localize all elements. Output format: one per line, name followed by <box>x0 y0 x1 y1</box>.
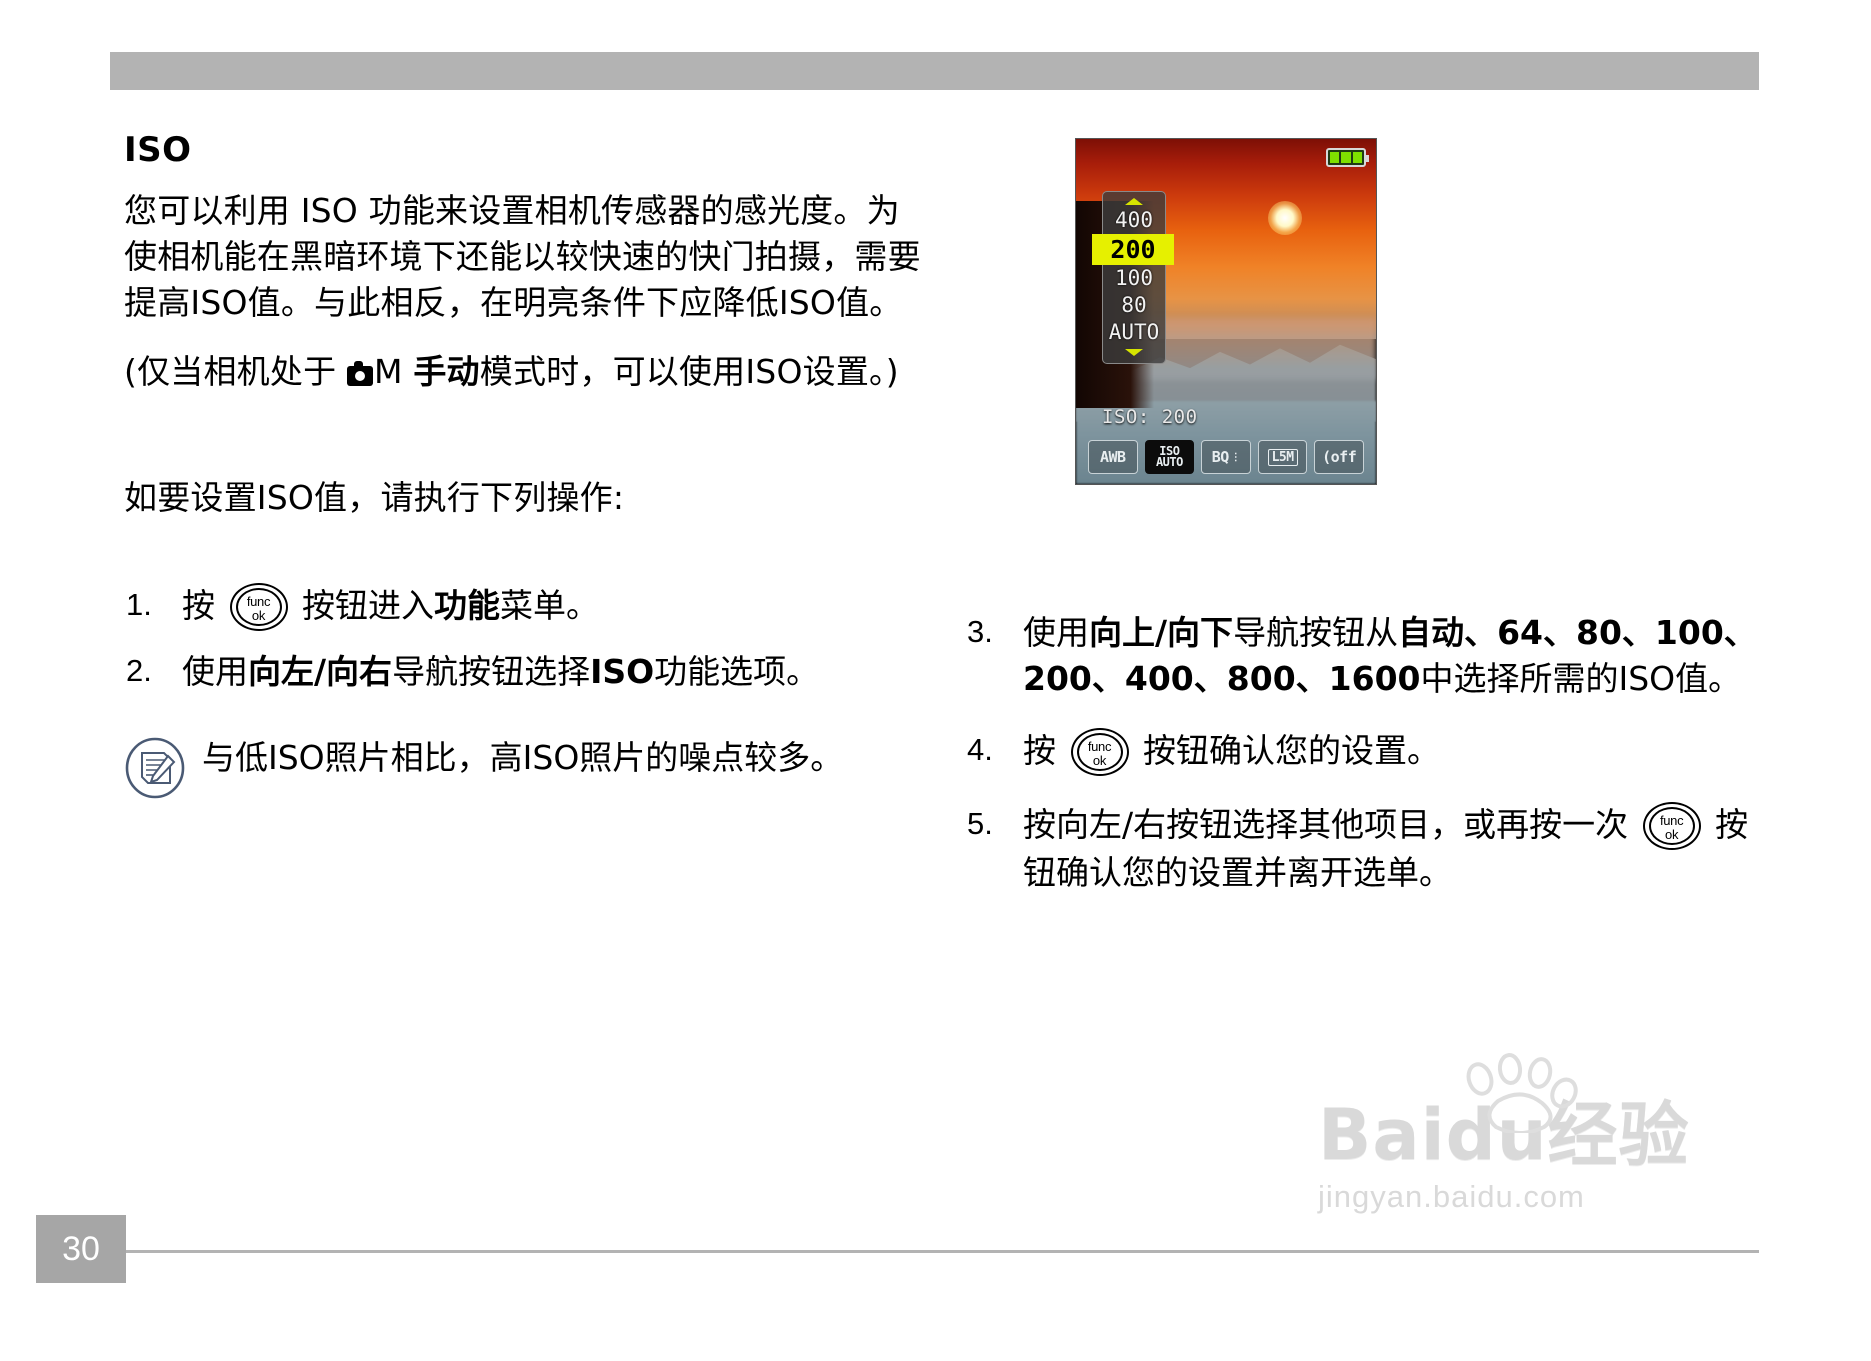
step-text-d: 中选择所需的ISO值。 <box>1421 659 1742 698</box>
step-text-a: 按向左/右按钮选择其他项目，或再按一次 <box>1023 805 1628 844</box>
sun-glow <box>1268 201 1302 235</box>
function-cell-iso[interactable]: ISO AUTO <box>1145 440 1195 474</box>
func-ok-button-icon: funcok <box>230 583 288 631</box>
iso-option-100[interactable]: 100 <box>1103 265 1165 292</box>
step-text-b: 按钮确认您的设置。 <box>1143 731 1440 770</box>
arrow-up-icon[interactable] <box>1125 198 1143 205</box>
note-pad-icon <box>124 737 186 799</box>
steps-list-left: 1.按 funcok 按钮进入功能菜单。 2.使用向左/向右导航按钮选择ISO功… <box>124 583 924 695</box>
paragraph-2-prefix: (仅当相机处于 <box>124 352 347 391</box>
function-cell-flash-off[interactable]: (off <box>1314 440 1364 474</box>
bq-label: BQ <box>1212 448 1229 466</box>
iso-readout-label: ISO: 200 <box>1102 406 1198 428</box>
list-item: 1.按 funcok 按钮进入功能菜单。 <box>124 583 924 631</box>
func-ok-button-icon: funcok <box>1643 802 1701 850</box>
page-header-bar <box>110 52 1759 90</box>
step-text-b: 按钮进入 <box>302 586 434 625</box>
left-column: ISO 您可以利用 ISO 功能来设置相机传感器的感光度。为使相机能在黑暗环境下… <box>124 130 924 781</box>
iso-auto-icon: ISO AUTO <box>1156 446 1183 468</box>
iso-option-400[interactable]: 400 <box>1103 207 1165 234</box>
step-number: 5. <box>967 802 993 845</box>
step-text-bold-a: 向上/向下 <box>1089 613 1233 652</box>
footer-rule <box>110 1250 1759 1253</box>
step-text-bold-a: 向左/向右 <box>248 652 392 691</box>
camera-function-bar: AWB ISO AUTO BQ⋮ L5M (off <box>1088 440 1364 474</box>
iso-option-200-selected[interactable]: 200 <box>1092 234 1174 265</box>
step-text-c: 功能选项。 <box>654 652 819 691</box>
func-ok-button-icon: funcok <box>1071 728 1129 776</box>
step-number: 4. <box>967 728 993 771</box>
steps-intro: 如要设置ISO值，请执行下列操作: <box>124 475 924 521</box>
steps-list-right: 3.使用向上/向下导航按钮从自动、64、80、100、200、400、800、1… <box>965 610 1775 897</box>
iso-value-selector[interactable]: 400 200 100 80 AUTO <box>1102 191 1166 364</box>
paragraph-2-bold: 手动 <box>413 352 479 391</box>
step-text-bold: 功能 <box>434 586 500 625</box>
iso-option-80[interactable]: 80 <box>1103 292 1165 319</box>
arrow-down-icon[interactable] <box>1125 349 1143 356</box>
manual-page: ISO 您可以利用 ISO 功能来设置相机传感器的感光度。为使相机能在黑暗环境下… <box>0 0 1871 1361</box>
step-text-a: 按 <box>1023 731 1056 770</box>
iso-option-auto[interactable]: AUTO <box>1103 319 1165 346</box>
step-text-a: 使用 <box>1023 613 1089 652</box>
intro-paragraph-1: 您可以利用 ISO 功能来设置相机传感器的感光度。为使相机能在黑暗环境下还能以较… <box>124 188 924 327</box>
intro-paragraph-2: (仅当相机处于 M 手动模式时，可以使用ISO设置。) <box>124 349 924 395</box>
bq-dots-icon: ⋮ <box>1231 455 1241 460</box>
paragraph-2-suffix: 模式时，可以使用ISO设置。) <box>480 352 899 391</box>
step-number: 1. <box>126 583 152 626</box>
list-item: 2.使用向左/向右导航按钮选择ISO功能选项。 <box>124 649 924 695</box>
camera-mode-icon <box>347 366 373 386</box>
step-number: 2. <box>126 649 152 692</box>
flash-off-label: off <box>1331 448 1357 466</box>
battery-full-icon <box>1326 148 1366 167</box>
size-label: L5M <box>1268 449 1298 466</box>
note-text: 与低ISO照片相比，高ISO照片的噪点较多。 <box>202 738 843 777</box>
step-number: 3. <box>967 610 993 653</box>
page-number: 30 <box>36 1215 126 1283</box>
right-column: 3.使用向上/向下导航按钮从自动、64、80、100、200、400、800、1… <box>965 610 1775 915</box>
note-block: 与低ISO照片相比，高ISO照片的噪点较多。 <box>124 735 924 781</box>
step-text-a: 使用 <box>182 652 248 691</box>
function-cell-size[interactable]: L5M <box>1258 440 1308 474</box>
list-item: 4.按 funcok 按钮确认您的设置。 <box>965 728 1775 776</box>
watermark-main-text: Baidu经验 <box>1318 1095 1788 1175</box>
paragraph-2-mode: M <box>374 352 403 391</box>
watermark-sub-text: jingyan.baidu.com <box>1318 1179 1788 1215</box>
step-text-c: 菜单。 <box>500 586 599 625</box>
function-cell-bq[interactable]: BQ⋮ <box>1201 440 1251 474</box>
list-item: 5.按向左/右按钮选择其他项目，或再按一次 funcok 按钮确认您的设置并离开… <box>965 802 1775 896</box>
iso-label-bottom: AUTO <box>1156 455 1183 469</box>
awb-label: AWB <box>1100 448 1126 466</box>
step-text-b: 导航按钮从 <box>1233 613 1398 652</box>
baidu-paw-icon <box>1458 1053 1578 1133</box>
step-text-b: 导航按钮选择 <box>392 652 590 691</box>
step-text-bold-b: 自动 <box>1398 613 1464 652</box>
list-item: 3.使用向上/向下导航按钮从自动、64、80、100、200、400、800、1… <box>965 610 1775 702</box>
step-text-a: 按 <box>182 586 215 625</box>
flash-off-icon: ( <box>1322 448 1331 466</box>
baidu-watermark: Baidu经验 jingyan.baidu.com <box>1318 1095 1788 1295</box>
step-text-bold-b: ISO <box>590 652 654 691</box>
page-title: ISO <box>124 130 924 170</box>
function-cell-awb[interactable]: AWB <box>1088 440 1138 474</box>
camera-screen-preview: 400 200 100 80 AUTO ISO: 200 AWB ISO AUT… <box>1075 138 1377 485</box>
